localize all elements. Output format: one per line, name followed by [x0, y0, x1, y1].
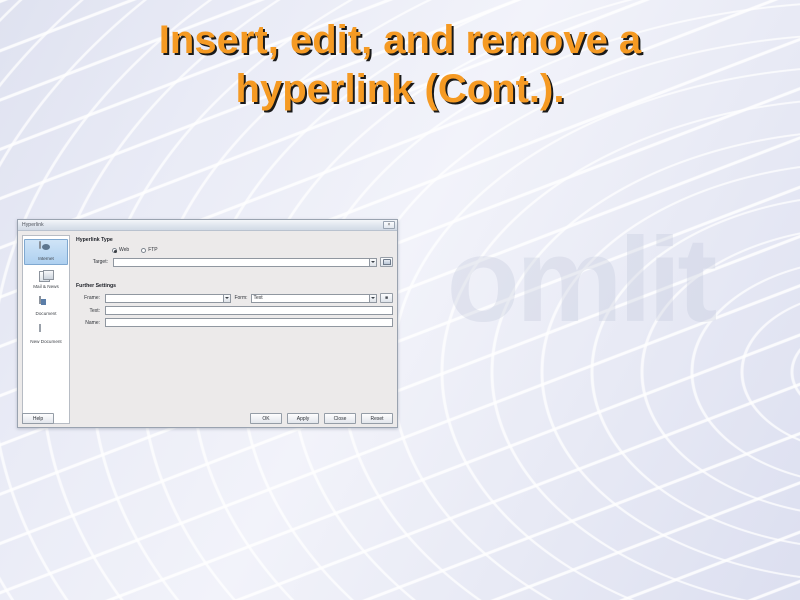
events-icon: ■ — [385, 296, 388, 301]
frame-label: Frame: — [76, 295, 102, 301]
dialog-action-buttons: OK Apply Close Reset — [250, 413, 393, 424]
frame-input[interactable] — [105, 294, 223, 303]
dialog-sidebar: Internet Mail & News Document New Docume… — [22, 235, 70, 424]
name-row: Name: — [76, 318, 393, 327]
close-button[interactable]: Close — [324, 413, 356, 424]
radio-ftp[interactable]: FTP — [141, 247, 157, 253]
events-button[interactable]: ■ — [380, 293, 393, 303]
browse-target-button[interactable] — [380, 257, 393, 267]
hyperlink-type-group-label: Hyperlink Type — [76, 237, 393, 243]
chevron-down-icon[interactable] — [223, 294, 231, 303]
folder-icon — [383, 259, 391, 265]
name-label: Name: — [76, 320, 102, 326]
sidebar-item-label: Document — [36, 312, 57, 317]
target-combobox[interactable] — [113, 258, 377, 267]
dialog-titlebar: Hyperlink × — [18, 220, 397, 231]
background-watermark: omlit — [430, 205, 730, 355]
new-document-icon — [39, 325, 54, 339]
further-settings-group-label: Further Settings — [76, 283, 393, 289]
sidebar-item-label: Mail & News — [33, 285, 59, 290]
sidebar-item-label: New Document — [30, 340, 61, 345]
name-input[interactable] — [105, 318, 393, 327]
radio-web-indicator — [112, 248, 117, 253]
text-input[interactable] — [105, 306, 393, 315]
text-row: Text: — [76, 306, 393, 315]
apply-button[interactable]: Apply — [287, 413, 319, 424]
chevron-down-icon[interactable] — [369, 258, 377, 267]
slide: omlit Insert, edit, and remove a hyperli… — [0, 0, 800, 600]
dialog-title: Hyperlink — [20, 222, 44, 228]
globe-icon — [39, 242, 54, 256]
reset-button[interactable]: Reset — [361, 413, 393, 424]
dialog-main-panel: Hyperlink Type Web FTP Target: — [70, 235, 393, 424]
document-icon — [39, 297, 54, 311]
help-button[interactable]: Help — [22, 413, 54, 424]
target-label: Target: — [76, 259, 110, 265]
radio-ftp-indicator — [141, 248, 146, 253]
sidebar-item-document[interactable]: Document — [24, 294, 68, 320]
radio-web-label: Web — [119, 247, 129, 253]
hyperlink-dialog: Hyperlink × Internet Mail & News Documen… — [17, 219, 398, 428]
radio-web[interactable]: Web — [112, 247, 129, 253]
hyperlink-type-radio-group: Web FTP — [112, 247, 393, 253]
dialog-body: Internet Mail & News Document New Docume… — [18, 231, 397, 428]
form-selected-value[interactable]: Text — [251, 294, 369, 303]
close-icon[interactable]: × — [383, 221, 395, 229]
mail-icon — [39, 270, 54, 284]
page-title: Insert, edit, and remove a hyperlink (Co… — [40, 16, 760, 114]
target-row: Target: — [76, 257, 393, 267]
sidebar-item-new-document[interactable]: New Document — [24, 322, 68, 348]
form-label: Form: — [234, 295, 247, 301]
frame-form-row: Frame: Form: Text ■ — [76, 293, 393, 303]
dialog-button-bar: Help OK Apply Close Reset — [22, 413, 393, 424]
radio-ftp-label: FTP — [148, 247, 157, 253]
sidebar-item-mail-and-news[interactable]: Mail & News — [24, 267, 68, 293]
sidebar-item-internet[interactable]: Internet — [24, 239, 68, 265]
further-settings-section: Further Settings Frame: Form: Text — [76, 283, 393, 327]
frame-combobox[interactable] — [105, 294, 231, 303]
target-input[interactable] — [113, 258, 369, 267]
form-combobox[interactable]: Text — [251, 294, 377, 303]
ok-button[interactable]: OK — [250, 413, 282, 424]
text-label: Text: — [76, 308, 102, 314]
chevron-down-icon[interactable] — [369, 294, 377, 303]
sidebar-item-label: Internet — [38, 257, 54, 262]
